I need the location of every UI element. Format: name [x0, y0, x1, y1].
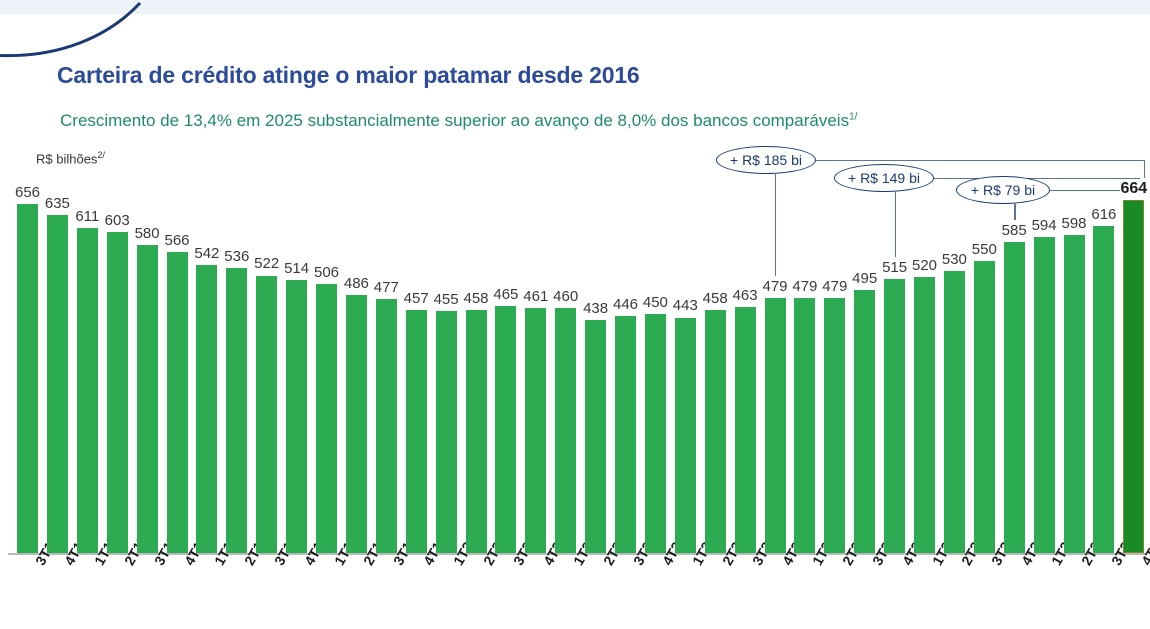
bar-chart-plot-area: 6563T166354T166111T176032T175803T175664T…: [0, 0, 1150, 629]
bar-1T20[interactable]: [436, 311, 457, 553]
bar-3T18[interactable]: [256, 276, 277, 554]
bar-4T24[interactable]: [1004, 242, 1025, 553]
bar-value-label-3T25: 616: [1082, 206, 1126, 223]
bar-2T20[interactable]: [466, 310, 487, 553]
bar-4T23[interactable]: [884, 279, 905, 553]
bar-1T18[interactable]: [196, 265, 217, 553]
bar-3T25[interactable]: [1093, 226, 1114, 553]
bar-1T24[interactable]: [914, 277, 935, 553]
bar-2T24[interactable]: [944, 271, 965, 553]
bar-2T19[interactable]: [346, 295, 367, 553]
slide-canvas: Carteira de crédito atinge o maior patam…: [0, 0, 1150, 629]
bar-4T18[interactable]: [286, 280, 307, 553]
callout-drop-line-0: [775, 174, 776, 276]
bar-4T19[interactable]: [406, 310, 427, 553]
bar-3T23[interactable]: [854, 290, 875, 553]
bar-1T17[interactable]: [77, 228, 98, 553]
bar-value-label-3T24: 550: [962, 241, 1006, 258]
bar-1T23[interactable]: [794, 298, 815, 553]
bar-2T25[interactable]: [1064, 235, 1085, 553]
callout-drop-line-1: [895, 192, 896, 257]
callout-connector-line-0: [814, 160, 1144, 161]
callout-badge-2[interactable]: + R$ 79 bi: [956, 176, 1050, 204]
bar-4T25[interactable]: [1123, 200, 1144, 553]
bar-2T22[interactable]: [705, 310, 726, 553]
bar-2T17[interactable]: [107, 232, 128, 553]
bar-4T17[interactable]: [167, 252, 188, 553]
bar-1T25[interactable]: [1034, 237, 1055, 553]
bar-3T21[interactable]: [615, 316, 636, 553]
bar-3T17[interactable]: [137, 245, 158, 553]
callout-drop-line-2: [1014, 204, 1015, 220]
bar-3T16[interactable]: [17, 204, 38, 553]
callout-connector-stub-0: [1144, 160, 1145, 178]
bar-3T19[interactable]: [376, 299, 397, 553]
bar-4T16[interactable]: [47, 215, 68, 553]
bar-2T21[interactable]: [585, 320, 606, 553]
bar-3T20[interactable]: [495, 306, 516, 553]
bar-value-label-4T25: 664: [1112, 180, 1150, 198]
bar-4T20[interactable]: [525, 308, 546, 553]
bar-1T22[interactable]: [675, 318, 696, 554]
callout-badge-1[interactable]: + R$ 149 bi: [834, 164, 934, 192]
bar-2T23[interactable]: [824, 298, 845, 553]
bar-3T22[interactable]: [735, 307, 756, 553]
bar-4T22[interactable]: [765, 298, 786, 553]
bar-1T21[interactable]: [555, 308, 576, 553]
callout-badge-0[interactable]: + R$ 185 bi: [716, 146, 816, 174]
bar-1T19[interactable]: [316, 284, 337, 553]
bar-2T18[interactable]: [226, 268, 247, 553]
bar-3T24[interactable]: [974, 261, 995, 553]
callout-connector-line-2: [1048, 190, 1120, 191]
bar-4T21[interactable]: [645, 314, 666, 553]
